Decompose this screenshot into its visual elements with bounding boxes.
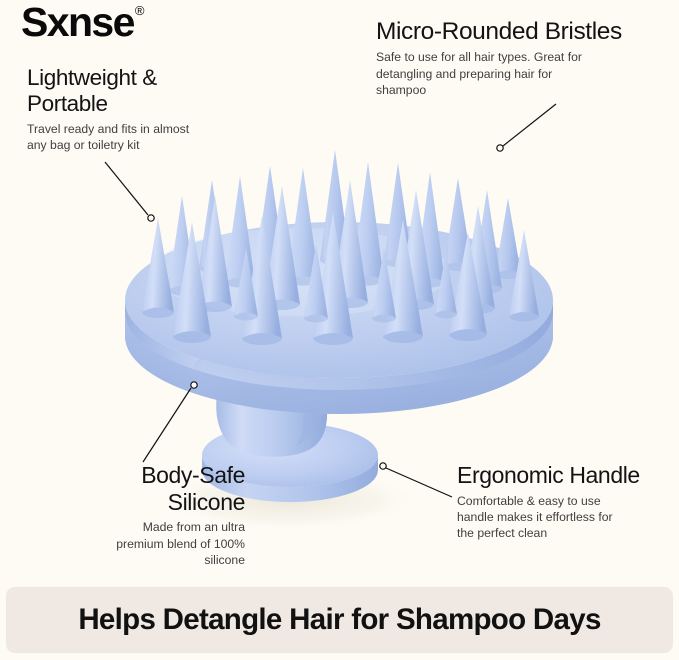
bottom-banner: Helps Detangle Hair for Shampoo Days [6,587,673,653]
callout-handle-body: Comfortable & easy to use handle makes i… [457,493,679,542]
callout-bristles: Micro-Rounded Bristles Safe to use for a… [376,18,671,98]
callout-handle: Ergonomic Handle Comfortable & easy to u… [457,462,679,541]
callout-lightweight-heading: Lightweight & Portable [27,65,247,117]
callout-silicone-heading: Body-Safe Silicone [45,462,245,515]
callout-handle-heading: Ergonomic Handle [457,462,679,489]
infographic-canvas: Sxnse ® Lightweight & Portable Travel re… [0,0,679,660]
callout-silicone-body: Made from an ultra premium blend of 100%… [45,519,245,568]
brand-logo: Sxnse ® [21,2,144,43]
banner-text: Helps Detangle Hair for Shampoo Days [78,605,600,635]
callout-lightweight: Lightweight & Portable Travel ready and … [27,65,247,154]
callout-bristles-heading: Micro-Rounded Bristles [376,18,671,46]
callout-lightweight-body: Travel ready and fits in almost any bag … [27,121,247,153]
callout-bristles-body: Safe to use for all hair types. Great fo… [376,49,671,98]
callout-silicone: Body-Safe Silicone Made from an ultra pr… [45,462,245,568]
brand-name: Sxnse [21,2,134,43]
registered-trademark-icon: ® [135,4,145,17]
